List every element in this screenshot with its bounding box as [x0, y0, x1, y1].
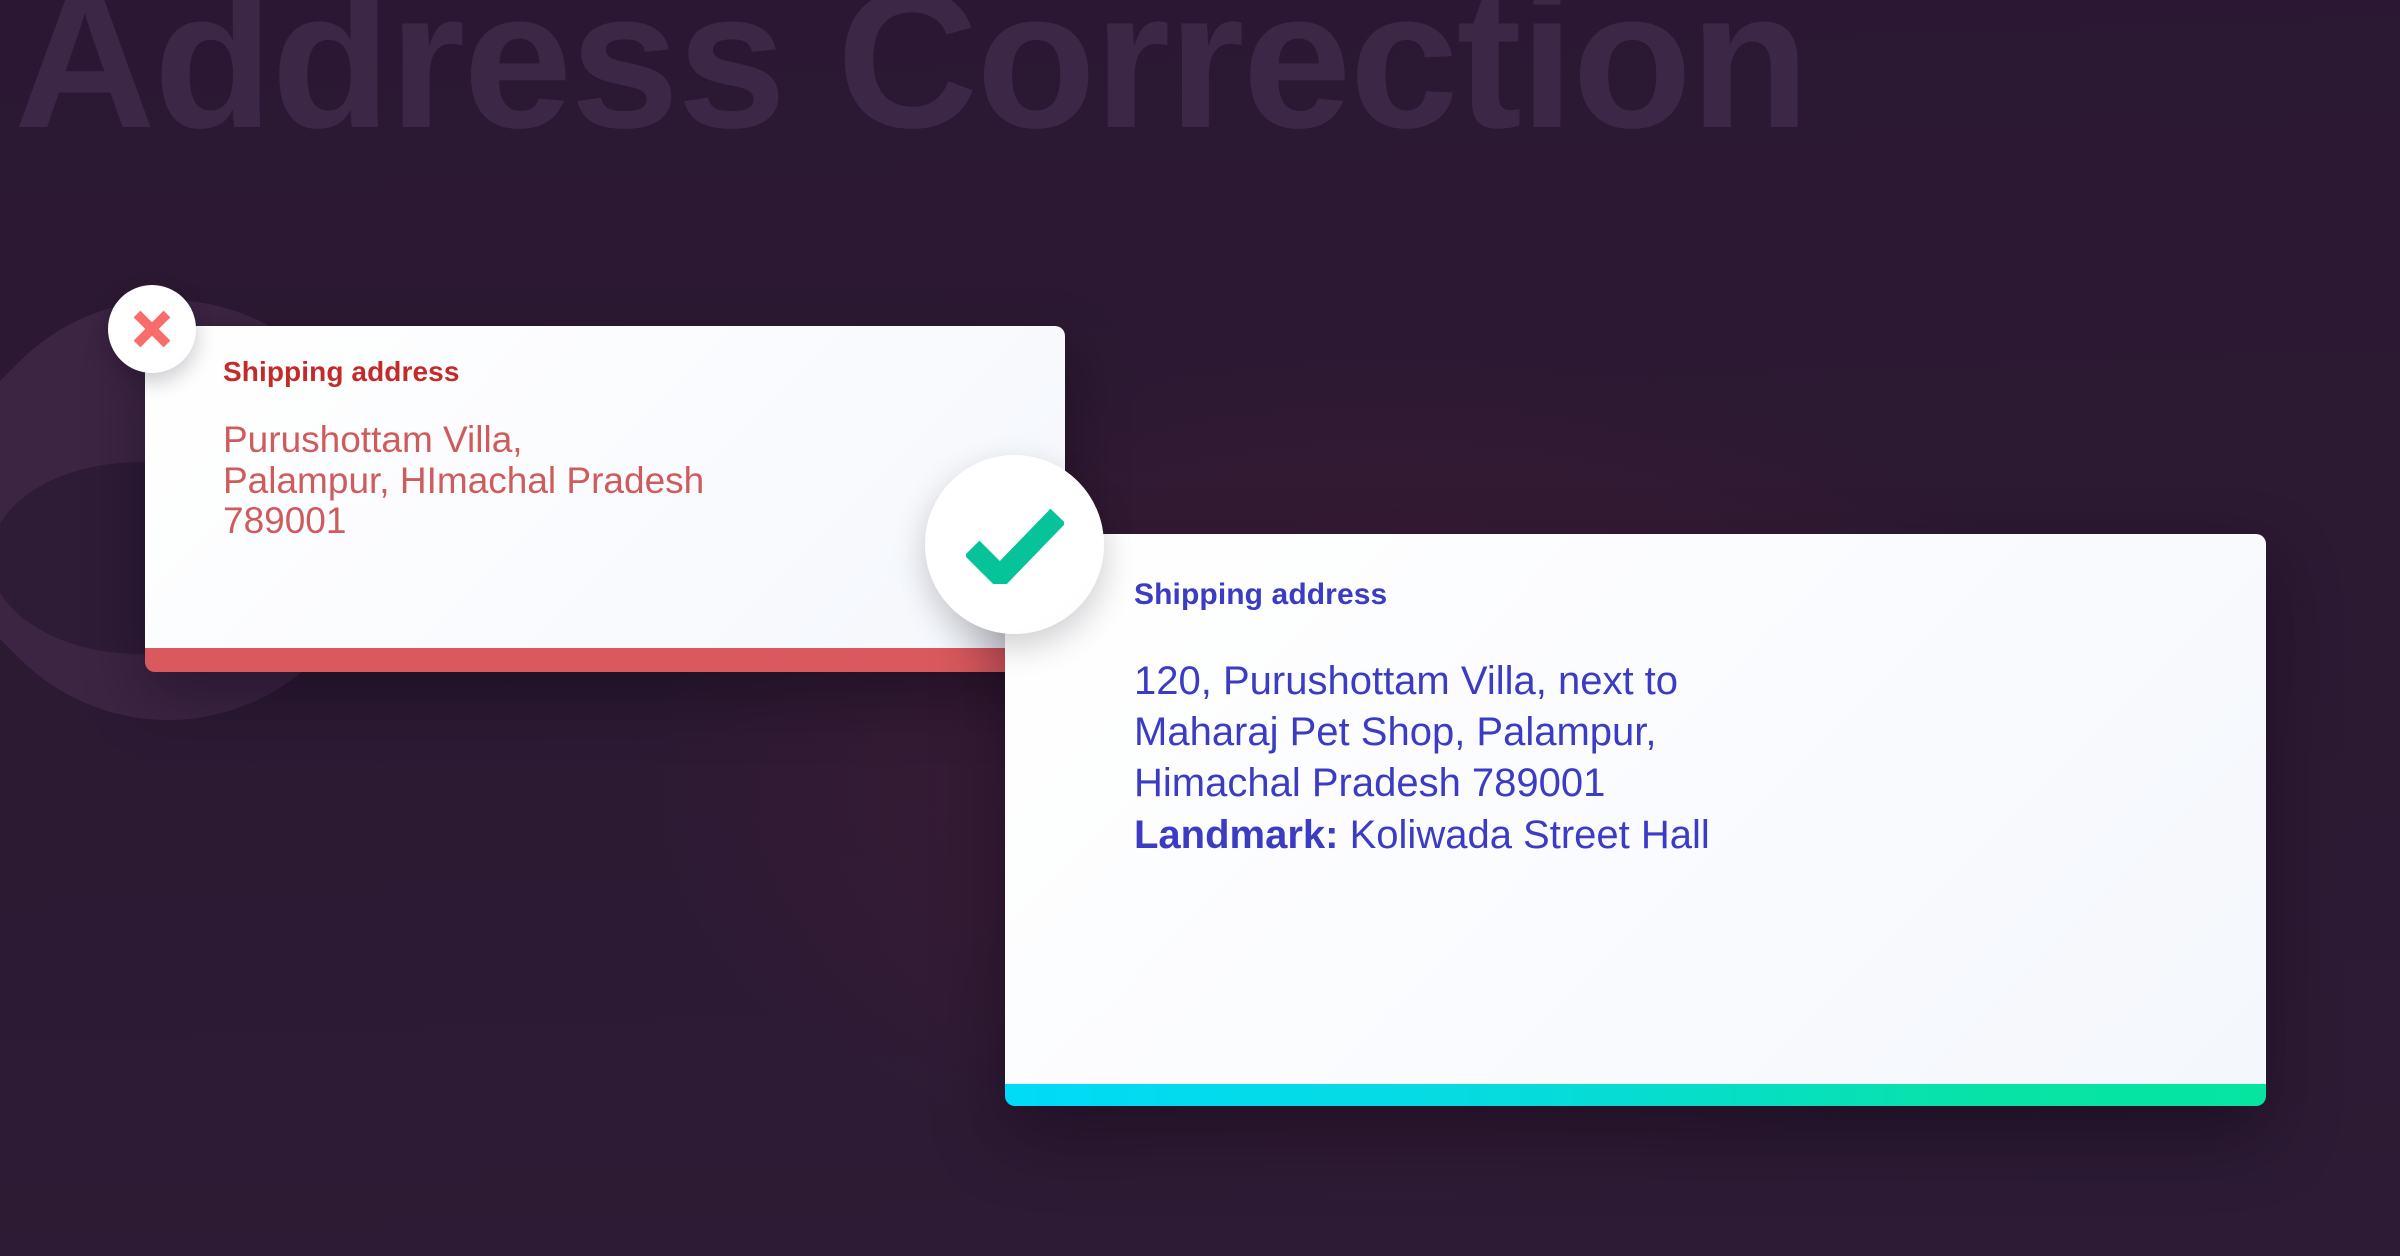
old-address-card: Shipping address Purushottam Villa, Pala…: [145, 326, 1065, 672]
error-status-badge: [108, 285, 196, 373]
corrected-address-card-body: Shipping address 120, Purushottam Villa,…: [1005, 534, 2266, 1084]
old-address-heading: Shipping address: [223, 356, 1065, 388]
cross-icon: [129, 306, 175, 352]
landmark-label: Landmark:: [1134, 813, 1339, 857]
old-address-card-body: Shipping address Purushottam Villa, Pala…: [145, 326, 1065, 648]
page-title: Address Correction: [14, 0, 1808, 158]
check-icon: [966, 506, 1064, 584]
corrected-address-lines: 120, Purushottam Villa, next to Maharaj …: [1134, 659, 1678, 805]
address-correction-graphic: Address Correction Shipping address Puru…: [0, 0, 2400, 1256]
landmark-value: Koliwada Street Hall: [1339, 813, 1710, 857]
corrected-address-accent-bar: [1005, 1084, 2266, 1106]
old-address-accent-bar: [145, 648, 1065, 672]
success-status-badge: [925, 455, 1104, 634]
corrected-address-card: Shipping address 120, Purushottam Villa,…: [1005, 534, 2266, 1106]
corrected-address-heading: Shipping address: [1134, 578, 2266, 612]
corrected-address-text: 120, Purushottam Villa, next to Maharaj …: [1134, 656, 2266, 861]
